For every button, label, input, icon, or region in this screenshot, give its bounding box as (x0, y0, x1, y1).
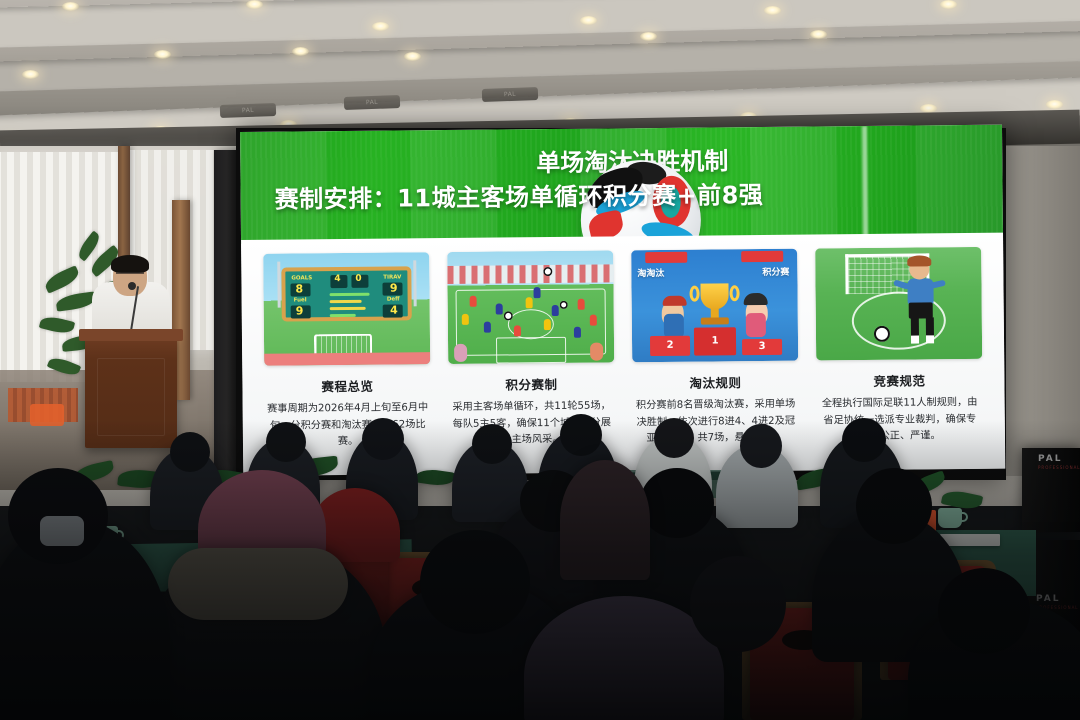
audience-head (640, 468, 714, 538)
audience-head (690, 556, 786, 652)
audience-head (266, 422, 306, 462)
audience-face-mask (40, 516, 84, 546)
audience-head (420, 530, 530, 634)
pa-speaker-brand: PAL (1036, 594, 1060, 604)
audience-head (362, 418, 404, 460)
audience-head (856, 468, 932, 544)
table-plant-leaf (415, 467, 455, 487)
teacup (938, 508, 962, 528)
audience-head (654, 418, 694, 458)
audience-member-long-hair (560, 460, 650, 580)
audience-head (938, 568, 1030, 654)
pa-speaker-brand: PAL (1038, 454, 1062, 464)
notepad (940, 534, 1000, 546)
audience-head (740, 424, 782, 468)
audience-foreground: PAL PROFESSIONAL PAL PROFESSIONAL (0, 0, 1080, 720)
audience-head (842, 418, 886, 462)
audience-head (560, 414, 602, 456)
audience-head (472, 424, 512, 464)
pa-speaker-brand-sub: PROFESSIONAL (1038, 465, 1080, 470)
conference-room-photo: PAL PAL PAL (0, 0, 1080, 720)
audience-scarf (168, 548, 348, 620)
audience-head (170, 432, 210, 472)
